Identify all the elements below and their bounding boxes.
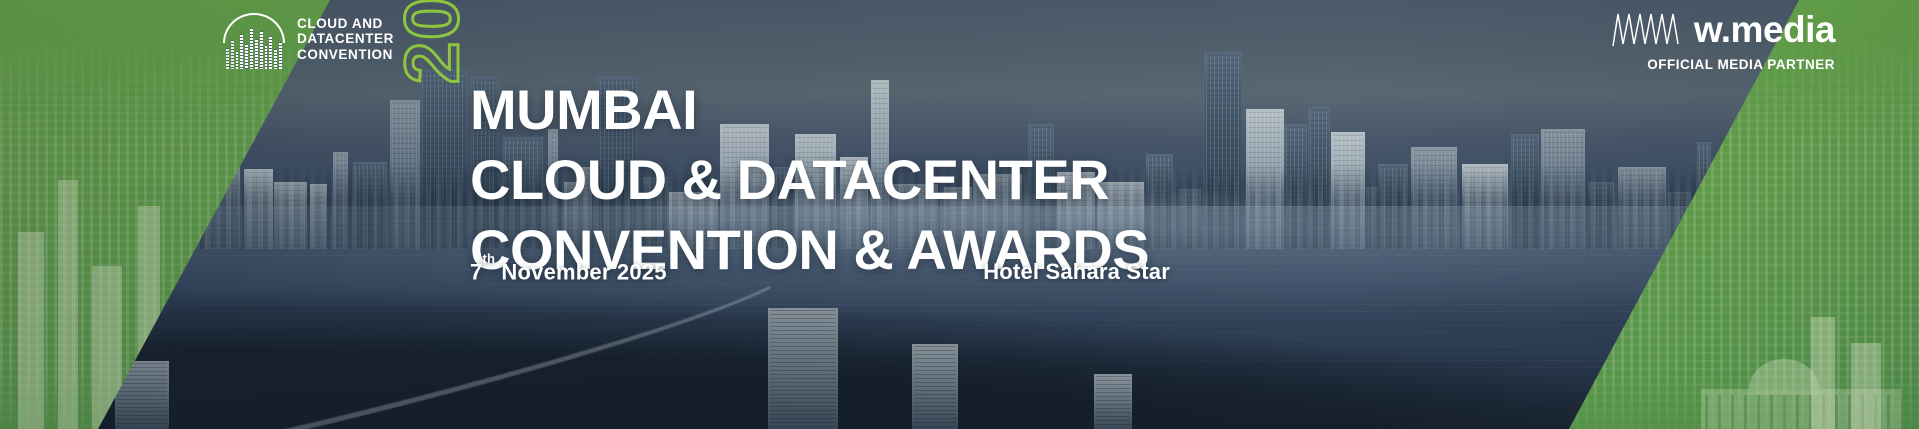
event-logo-line-1: CLOUD AND <box>297 16 394 32</box>
page-title: MUMBAI CLOUD & DATACENTER CONVENTION & A… <box>470 82 1149 278</box>
event-meta-row: 7th November 2025 Hotel Sahara Star <box>470 259 1170 285</box>
cloud-over-datacenter-buildings-icon <box>222 8 286 70</box>
headline-line-1: MUMBAI <box>470 82 1149 138</box>
event-venue: Hotel Sahara Star <box>983 259 1170 285</box>
wmedia-wordmark: w.media <box>1694 11 1835 48</box>
event-date-day: 7 <box>470 259 482 284</box>
foreground-building <box>1094 374 1132 429</box>
event-banner: CLOUD AND DATACENTER CONVENTION w.media … <box>0 0 1919 429</box>
zigzag-wave-icon <box>1612 10 1686 48</box>
headline-line-2: CLOUD & DATACENTER <box>470 152 1149 208</box>
event-date-month-year: November 2025 <box>495 259 667 284</box>
foreground-building <box>912 344 958 429</box>
datacenter-bars-icon <box>226 28 282 69</box>
official-media-partner-label: OFFICIAL MEDIA PARTNER <box>1612 57 1835 72</box>
year-vertical-label: 2025 <box>395 0 471 84</box>
event-date-ordinal: th <box>482 251 495 266</box>
event-logo-line-2: DATACENTER <box>297 31 394 47</box>
media-partner-block[interactable]: w.media OFFICIAL MEDIA PARTNER <box>1612 10 1835 72</box>
event-logo-wordmark: CLOUD AND DATACENTER CONVENTION <box>297 16 394 63</box>
event-logo[interactable]: CLOUD AND DATACENTER CONVENTION <box>222 8 394 70</box>
wmedia-logo[interactable]: w.media <box>1612 10 1835 48</box>
event-date: 7th November 2025 <box>470 259 983 285</box>
event-logo-line-3: CONVENTION <box>297 47 394 63</box>
foreground-building <box>768 308 838 429</box>
